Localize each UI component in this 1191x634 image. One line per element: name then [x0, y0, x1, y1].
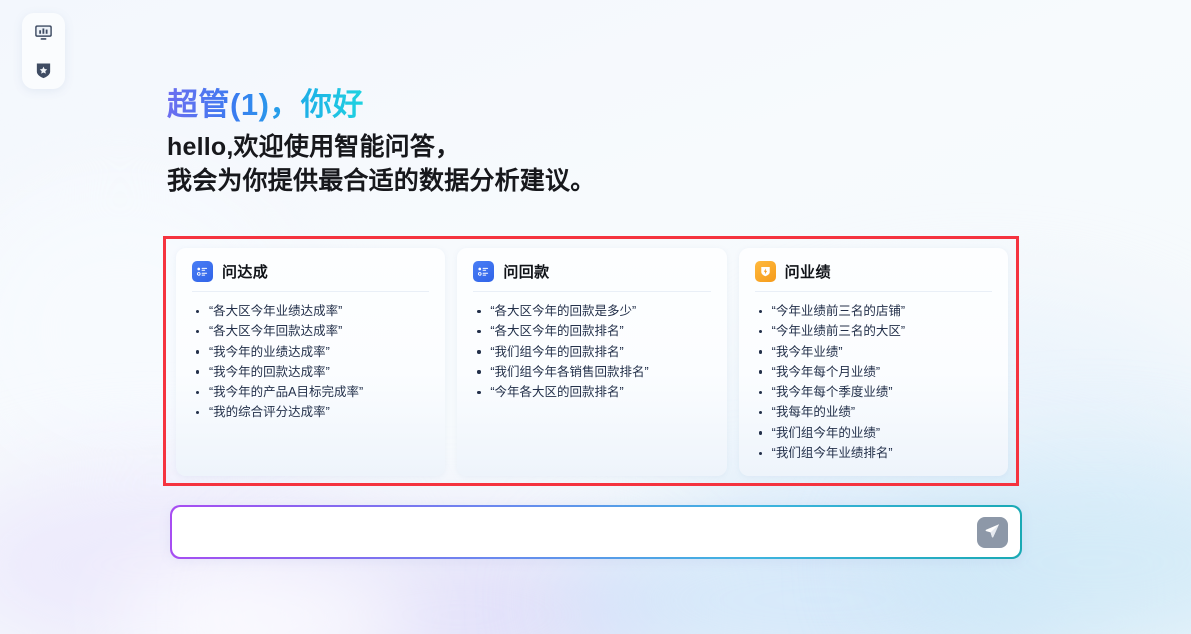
- card-header: 问业绩: [755, 261, 992, 292]
- sidebar-rail: [22, 13, 65, 89]
- composer-bar: [170, 505, 1022, 559]
- card-suggestion-list: “各大区今年业绩达成率” “各大区今年回款达成率” “我今年的业绩达成率” “我…: [192, 301, 429, 423]
- list-item[interactable]: “我们组今年的业绩”: [755, 423, 992, 443]
- list-item[interactable]: “今年业绩前三名的店铺”: [755, 301, 992, 321]
- suggestion-card-wenyeji[interactable]: 问业绩 “今年业绩前三名的店铺” “今年业绩前三名的大区” “我今年业绩” “我…: [739, 248, 1008, 476]
- shield-star-icon: [34, 61, 53, 80]
- card-header: 问回款: [473, 261, 710, 292]
- list-item[interactable]: “我们组今年各销售回款排名”: [473, 362, 710, 382]
- sidebar-item-dashboard[interactable]: [31, 20, 57, 44]
- list-checklist-icon: [192, 261, 213, 282]
- suggestion-cards: 问达成 “各大区今年业绩达成率” “各大区今年回款达成率” “我今年的业绩达成率…: [176, 248, 1008, 476]
- chart-monitor-icon: [34, 23, 53, 42]
- list-item[interactable]: “我的综合评分达成率”: [192, 402, 429, 422]
- list-item[interactable]: “我今年每个月业绩”: [755, 362, 992, 382]
- card-header: 问达成: [192, 261, 429, 292]
- greeting-title: 超管(1)，你好: [167, 79, 364, 124]
- list-item[interactable]: “我每年的业绩”: [755, 402, 992, 422]
- suggestion-card-wendacheng[interactable]: 问达成 “各大区今年业绩达成率” “各大区今年回款达成率” “我今年的业绩达成率…: [176, 248, 445, 476]
- card-suggestion-list: “今年业绩前三名的店铺” “今年业绩前三名的大区” “我今年业绩” “我今年每个…: [755, 301, 992, 463]
- list-item[interactable]: “各大区今年业绩达成率”: [192, 301, 429, 321]
- chat-input[interactable]: [188, 507, 978, 558]
- list-checklist-icon: [473, 261, 494, 282]
- main-content: 超管(1)，你好 hello,欢迎使用智能问答， 我会为你提供最合适的数据分析建…: [0, 0, 1191, 634]
- card-title: 问回款: [503, 261, 549, 282]
- send-icon: [984, 522, 1001, 542]
- list-item[interactable]: “我今年的回款达成率”: [192, 362, 429, 382]
- card-title: 问达成: [222, 261, 268, 282]
- suggestion-card-wenhuikuan[interactable]: 问回款 “各大区今年的回款是多少” “各大区今年的回款排名” “我们组今年的回款…: [457, 248, 726, 476]
- list-item[interactable]: “我今年的业绩达成率”: [192, 342, 429, 362]
- list-item[interactable]: “我今年业绩”: [755, 342, 992, 362]
- list-item[interactable]: “我今年的产品A目标完成率”: [192, 382, 429, 402]
- list-item[interactable]: “我今年每个季度业绩”: [755, 382, 992, 402]
- send-button[interactable]: [977, 517, 1008, 548]
- card-title: 问业绩: [785, 261, 831, 282]
- list-item[interactable]: “我们组今年业绩排名”: [755, 443, 992, 463]
- sidebar-item-shield[interactable]: [31, 58, 57, 82]
- composer-inner: [172, 507, 1021, 558]
- list-item[interactable]: “今年业绩前三名的大区”: [755, 321, 992, 341]
- list-item[interactable]: “各大区今年回款达成率”: [192, 321, 429, 341]
- list-item[interactable]: “我们组今年的回款排名”: [473, 342, 710, 362]
- shield-bolt-icon: [755, 261, 776, 282]
- list-item[interactable]: “各大区今年的回款排名”: [473, 321, 710, 341]
- list-item[interactable]: “今年各大区的回款排名”: [473, 382, 710, 402]
- page-subtitle: hello,欢迎使用智能问答， 我会为你提供最合适的数据分析建议。: [167, 131, 595, 199]
- list-item[interactable]: “各大区今年的回款是多少”: [473, 301, 710, 321]
- card-suggestion-list: “各大区今年的回款是多少” “各大区今年的回款排名” “我们组今年的回款排名” …: [473, 301, 710, 402]
